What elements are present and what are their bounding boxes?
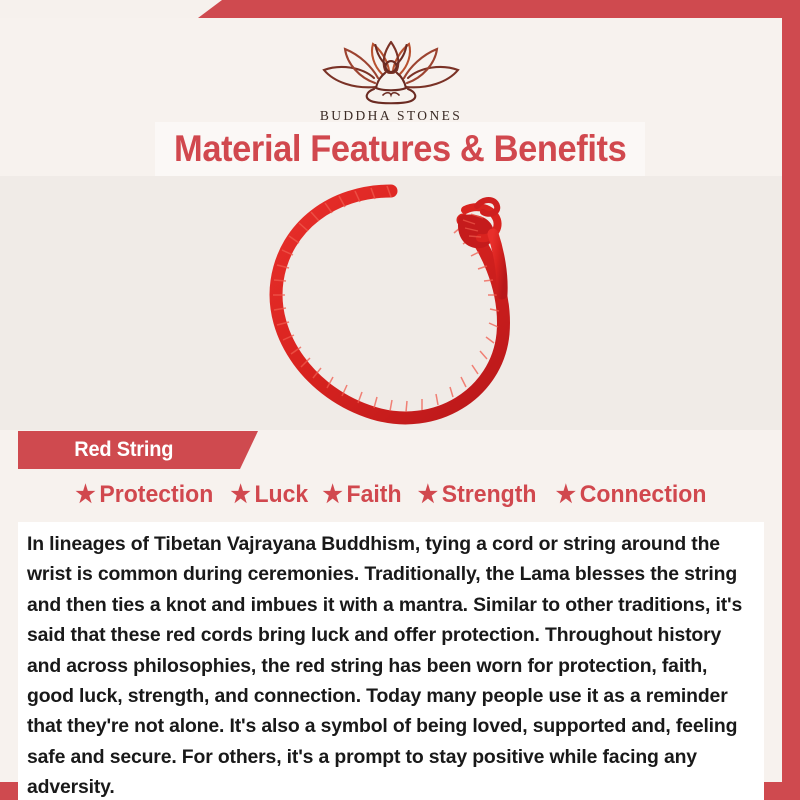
product-label: Red String bbox=[22, 438, 173, 462]
feature-label: Faith bbox=[347, 481, 402, 509]
title-banner: Material Features & Benefits bbox=[155, 122, 645, 176]
star-icon: ★ bbox=[75, 483, 95, 507]
description-paragraph: In lineages of Tibetan Vajrayana Buddhis… bbox=[27, 529, 751, 800]
lotus-meditation-icon bbox=[316, 40, 466, 106]
star-icon: ★ bbox=[418, 483, 438, 507]
card-inner-canvas: BUDDHA STONES Material Features & Benefi… bbox=[0, 18, 782, 782]
star-icon: ★ bbox=[555, 483, 575, 507]
feature-item-strength: ★ Strength bbox=[414, 481, 542, 509]
feature-label: Luck bbox=[254, 481, 308, 509]
feature-item-protection: ★ Protection bbox=[71, 481, 218, 509]
feature-label: Strength bbox=[442, 481, 537, 509]
brand-logo: BUDDHA STONES bbox=[0, 40, 782, 124]
feature-item-faith: ★ Faith bbox=[318, 481, 406, 509]
star-icon: ★ bbox=[323, 483, 343, 507]
page-title: Material Features & Benefits bbox=[174, 128, 626, 170]
decor-right-red-band bbox=[782, 18, 800, 800]
description-block: In lineages of Tibetan Vajrayana Buddhis… bbox=[18, 522, 764, 800]
star-icon: ★ bbox=[230, 483, 250, 507]
feature-label: Protection bbox=[99, 481, 213, 509]
feature-item-connection: ★ Connection bbox=[551, 481, 711, 509]
feature-keyword-row: ★ Protection ★ Luck ★ Faith ★ Strength ★… bbox=[0, 481, 782, 509]
feature-item-luck: ★ Luck bbox=[225, 481, 312, 509]
red-string-bracelet-photo bbox=[241, 182, 541, 430]
infographic-card: BUDDHA STONES Material Features & Benefi… bbox=[0, 0, 800, 800]
decor-top-red-band bbox=[0, 0, 800, 18]
product-label-banner: Red String bbox=[18, 431, 258, 469]
product-image-area bbox=[0, 176, 782, 430]
feature-label: Connection bbox=[579, 481, 706, 509]
